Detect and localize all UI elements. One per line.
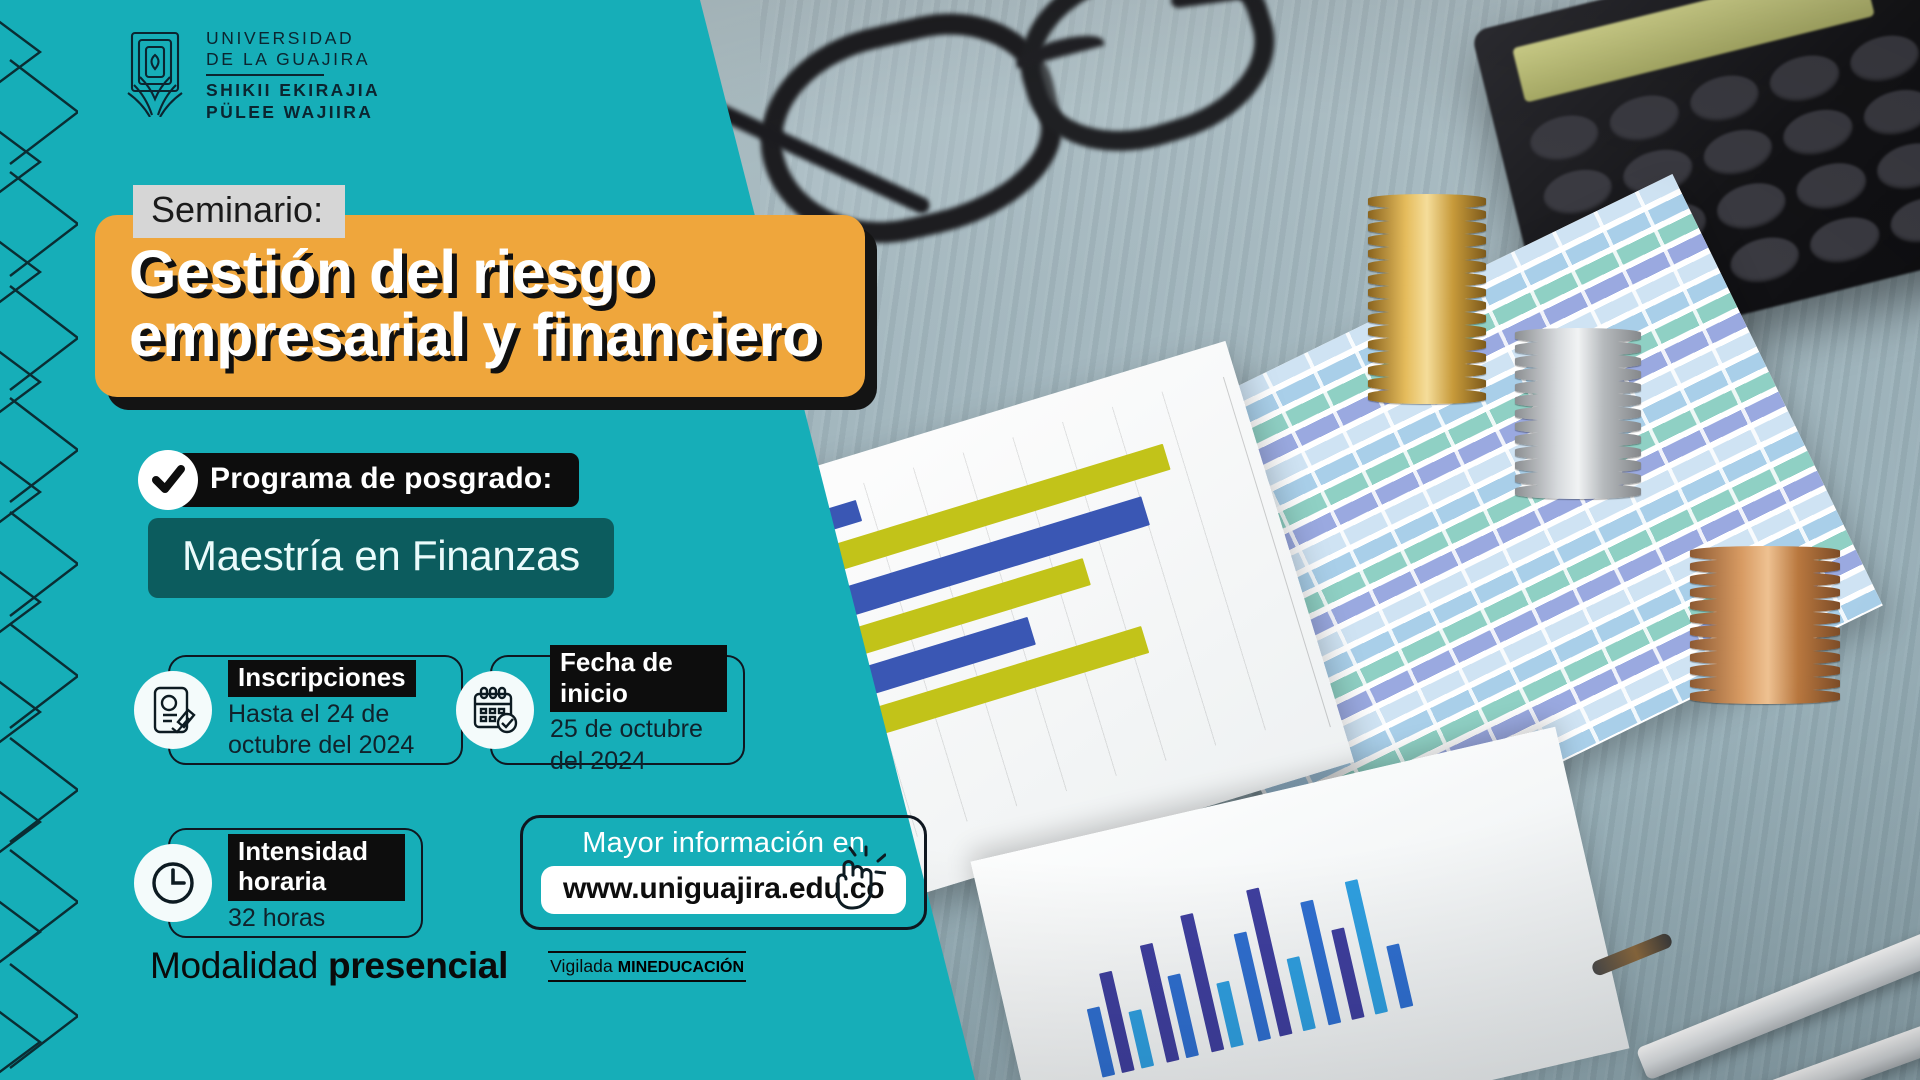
- seminar-eyebrow-label: Seminario:: [133, 185, 345, 238]
- click-hand-icon: [822, 845, 886, 917]
- badge-line-2: del 2024: [550, 747, 727, 776]
- logo-line-1: UNIVERSIDAD: [206, 28, 380, 49]
- badge-line-1: 32 horas: [228, 904, 405, 933]
- detail-badge-intensidad-horaria: Intensidad horaria 32 horas: [168, 828, 423, 938]
- badge-heading: Inscripciones: [228, 660, 416, 697]
- clock-icon: [134, 844, 212, 922]
- university-logo: UNIVERSIDAD DE LA GUAJIRA SHIKII EKIRAJI…: [118, 24, 380, 123]
- logo-line-3: SHIKII EKIRAJIA: [206, 80, 380, 101]
- seminar-title-card: Gestión del riesgo empresarial y financi…: [95, 215, 865, 397]
- title-line-2: empresarial y financiero: [129, 304, 829, 367]
- modality-text: Modalidad presencial: [150, 945, 508, 987]
- wayuu-zigzag-pattern: [0, 0, 78, 1080]
- title-line-1: Gestión del riesgo: [129, 241, 829, 304]
- uniguajira-woven-knot-logo-icon: [118, 29, 192, 117]
- logo-line-2: DE LA GUAJIRA: [206, 49, 380, 70]
- badge-line-1: Hasta el 24 de: [228, 700, 416, 729]
- program-label-row: Programa de posgrado:: [138, 450, 579, 510]
- detail-badge-inscripciones: Inscripciones Hasta el 24 de octubre del…: [168, 655, 463, 765]
- check-circle-icon: [138, 450, 198, 510]
- badge-heading: Fecha de inicio: [550, 645, 727, 712]
- vigilada-mineducacion-seal: Vigilada MINEDUCACIÓN: [548, 951, 746, 982]
- badge-line-1: 25 de octubre: [550, 715, 727, 744]
- calendar-check-icon: [456, 671, 534, 749]
- modality-prefix: Modalidad: [150, 945, 328, 986]
- footer: Modalidad presencial Vigilada MINEDUCACI…: [150, 945, 746, 987]
- logo-divider: [206, 74, 324, 77]
- program-label: Programa de posgrado:: [176, 453, 579, 507]
- detail-badge-fecha-inicio: Fecha de inicio 25 de octubre del 2024: [490, 655, 745, 765]
- vigilada-strong: MINEDUCACIÓN: [618, 959, 744, 976]
- logo-line-4: PÜLEE WAJIIRA: [206, 102, 380, 123]
- document-signature-icon: [134, 671, 212, 749]
- badge-line-2: octubre del 2024: [228, 731, 416, 760]
- badge-heading: Intensidad horaria: [228, 834, 405, 901]
- modality-strong: presencial: [328, 945, 508, 986]
- program-name: Maestría en Finanzas: [148, 518, 614, 598]
- vigilada-prefix: Vigilada: [550, 956, 618, 976]
